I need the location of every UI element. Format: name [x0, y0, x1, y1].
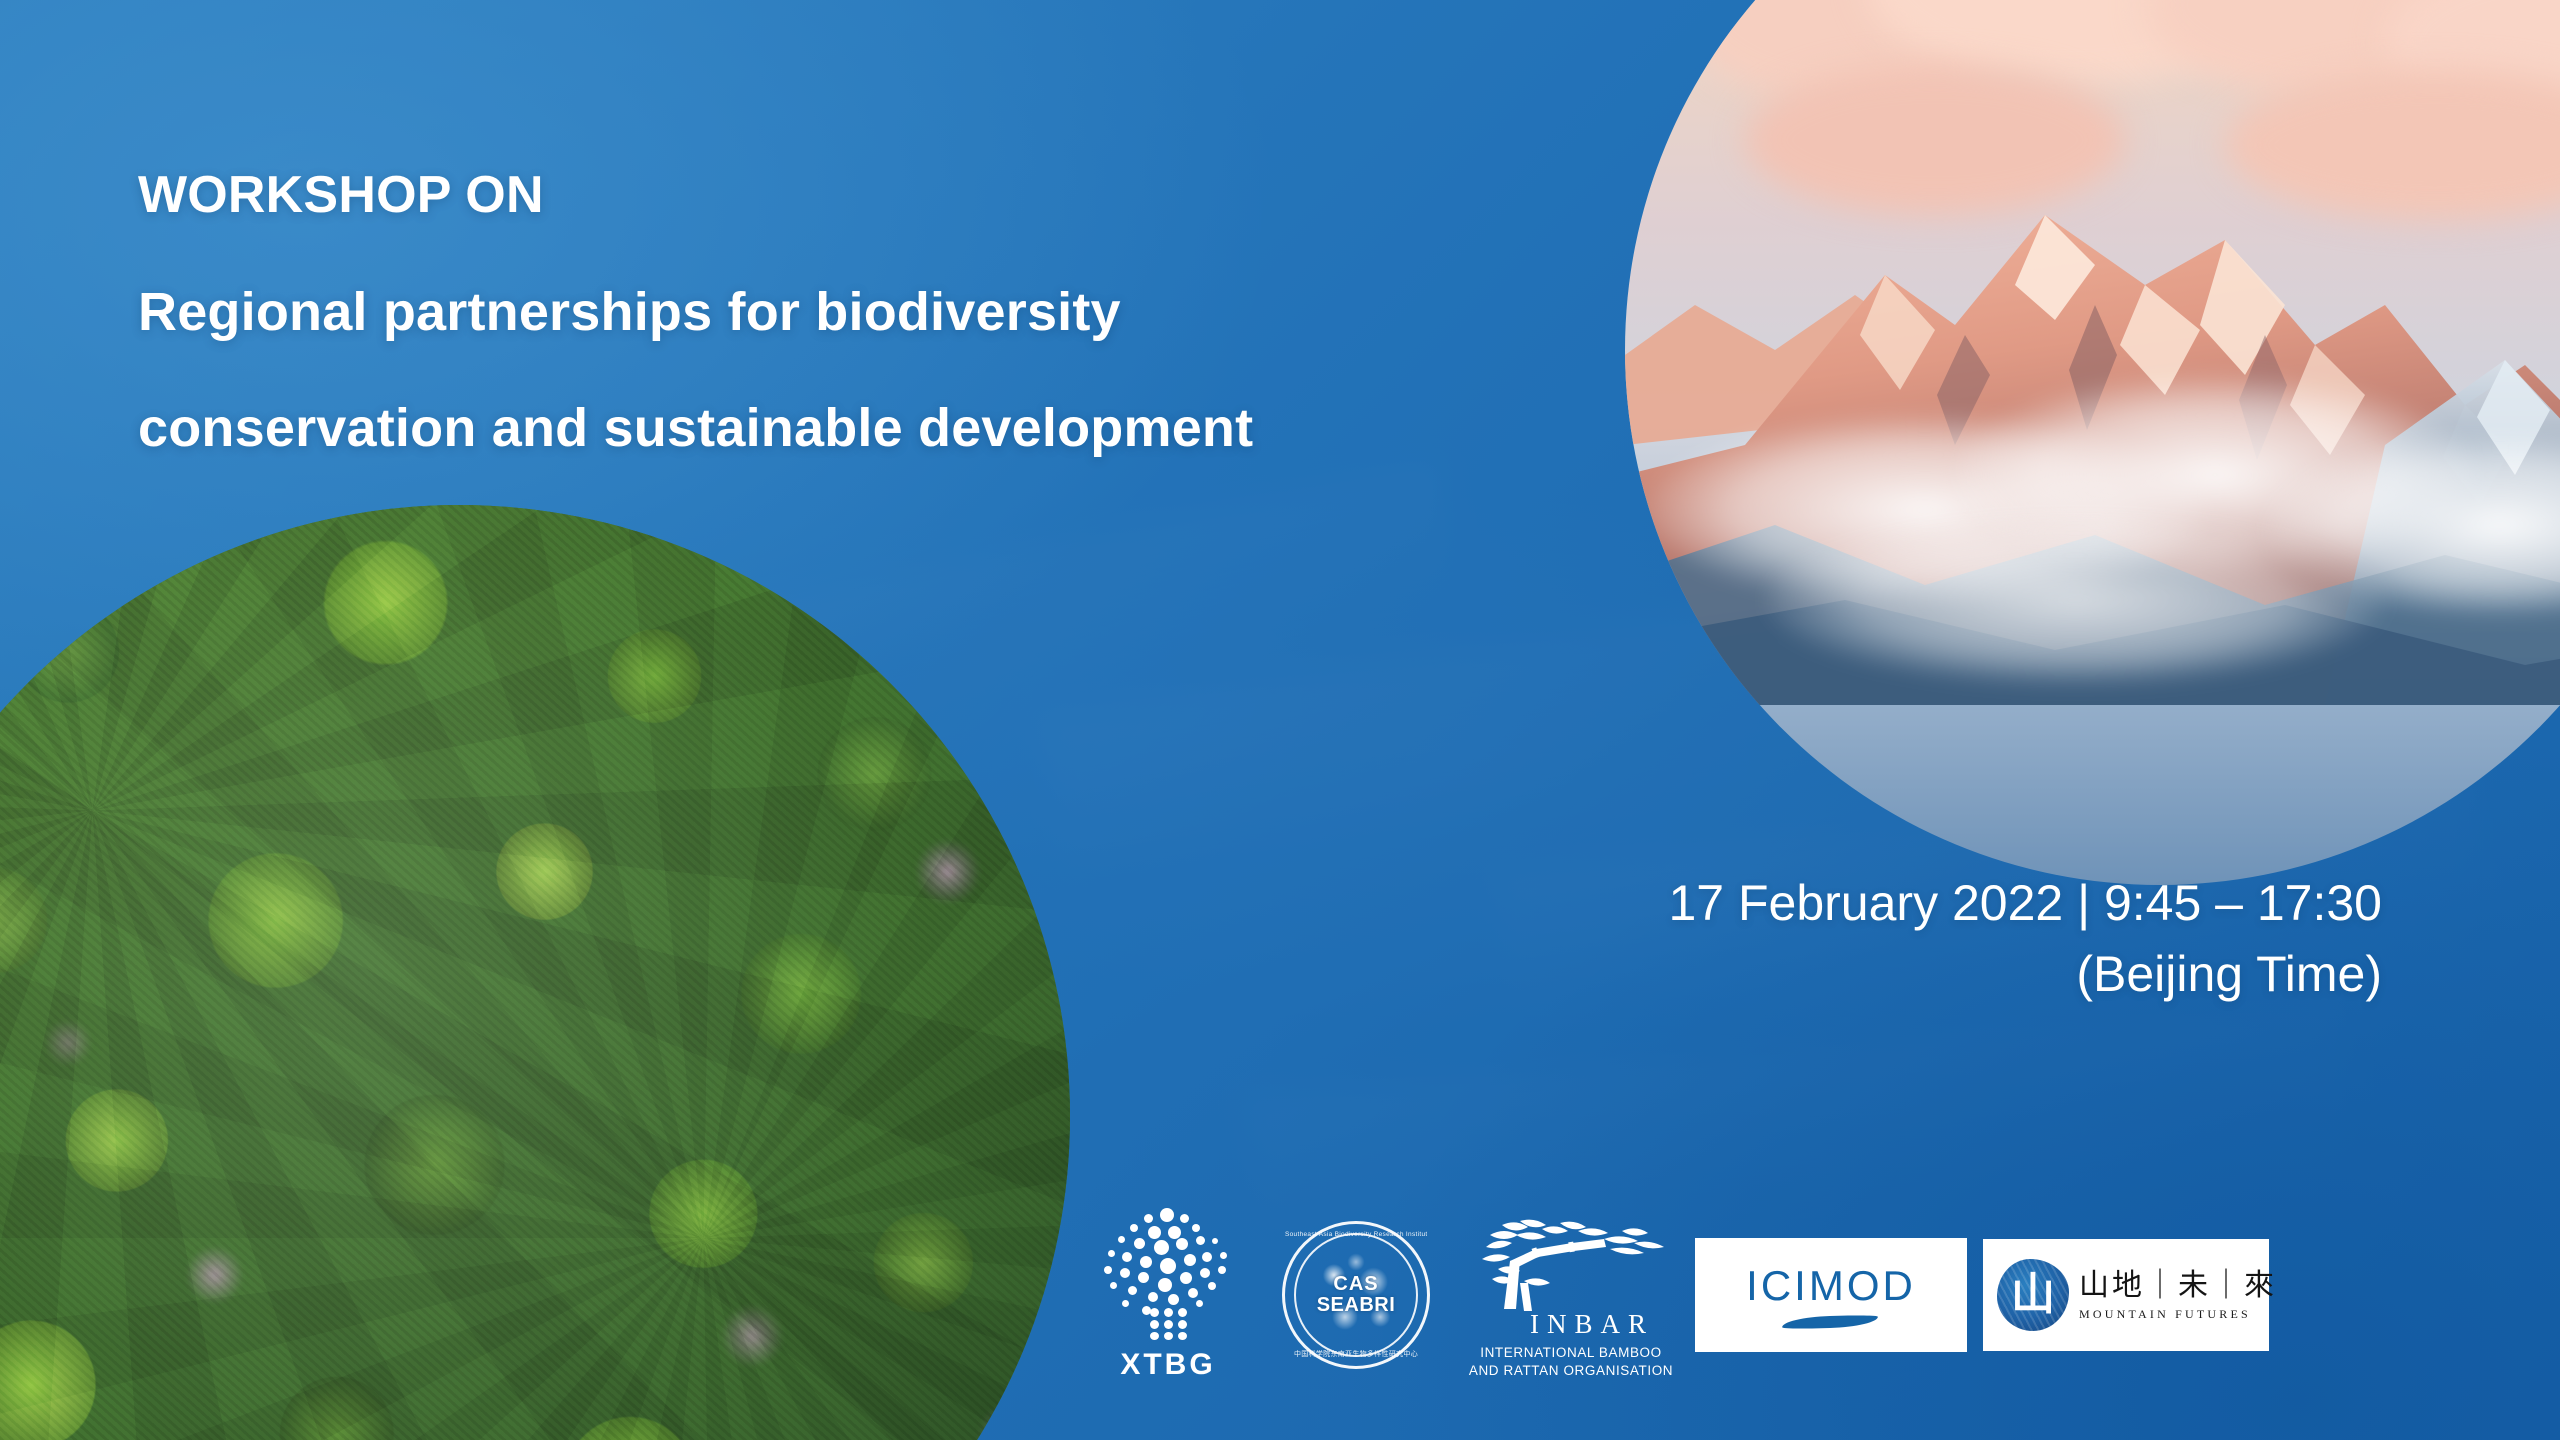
inbar-subtitle: INTERNATIONAL BAMBOO AND RATTAN ORGANISA… [1469, 1344, 1673, 1379]
xtbg-wordmark: XTBG [1120, 1348, 1215, 1382]
inbar-bamboo-icon [1476, 1217, 1666, 1313]
inbar-subtitle-line-2: AND RATTAN ORGANISATION [1469, 1362, 1673, 1379]
cas-abbr-line-2: SEABRI [1285, 1295, 1427, 1316]
kicker-text: WORKSHOP ON [138, 168, 1638, 223]
event-datetime-block: 17 February 2022 | 9:45 – 17:30 (Beijing… [1382, 868, 2382, 1010]
mountain-photo-circle [1625, 0, 2560, 885]
icimod-wave-icon [1782, 1314, 1878, 1329]
inbar-subtitle-line-1: INTERNATIONAL BAMBOO [1469, 1344, 1673, 1361]
mountain-futures-text: 山地｜未｜來 MOUNTAIN FUTURES [2079, 1269, 2277, 1322]
mountain-futures-emblem-icon: 山 [1997, 1259, 2069, 1331]
event-timezone: (Beijing Time) [1382, 939, 2382, 1010]
icimod-mark: ICIMOD [1708, 1258, 1954, 1332]
mountain-futures-wordmark-cn: 山地｜未｜來 [2079, 1269, 2277, 1302]
partner-logo-strip: XTBG Southeast Asia Biodiversity Researc… [1080, 1195, 2500, 1395]
cas-abbr-line-1: CAS [1285, 1274, 1427, 1295]
logo-icimod[interactable]: ICIMOD [1686, 1200, 1976, 1390]
icimod-white-box: ICIMOD [1695, 1238, 1967, 1352]
mountain-futures-wordmark-en: MOUNTAIN FUTURES [2079, 1307, 2277, 1322]
icimod-wordmark: ICIMOD [1708, 1262, 1954, 1310]
logo-mountain-futures[interactable]: 山 山地｜未｜來 MOUNTAIN FUTURES [1976, 1200, 2276, 1390]
cas-seabri-seal-icon: Southeast Asia Biodiversity Research Ins… [1282, 1221, 1430, 1369]
cas-rim-text-bottom: 中国科学院东南亚生物多样性研究中心 [1285, 1349, 1427, 1359]
cas-abbreviation: CAS SEABRI [1285, 1274, 1427, 1316]
cas-rim-text-top: Southeast Asia Biodiversity Research Ins… [1285, 1231, 1427, 1238]
forest-photo-circle [0, 505, 1070, 1440]
mountain-futures-white-box: 山 山地｜未｜來 MOUNTAIN FUTURES [1983, 1239, 2269, 1351]
title-line-2: conservation and sustainable development [138, 399, 1638, 457]
title-line-1: Regional partnerships for biodiversity [138, 283, 1638, 341]
logo-inbar[interactable]: INBAR INTERNATIONAL BAMBOO AND RATTAN OR… [1456, 1200, 1686, 1390]
logo-cas-seabri[interactable]: Southeast Asia Biodiversity Research Ins… [1256, 1200, 1456, 1390]
headline-block: WORKSHOP ON Regional partnerships for bi… [138, 168, 1638, 457]
mountain-glyph: 山 [2011, 1273, 2055, 1317]
logo-xtbg[interactable]: XTBG [1080, 1200, 1256, 1390]
event-banner: WORKSHOP ON Regional partnerships for bi… [0, 0, 2560, 1440]
xtbg-tree-icon [1100, 1208, 1236, 1340]
inbar-wordmark: INBAR [1488, 1309, 1654, 1340]
event-datetime: 17 February 2022 | 9:45 – 17:30 [1668, 875, 2382, 931]
